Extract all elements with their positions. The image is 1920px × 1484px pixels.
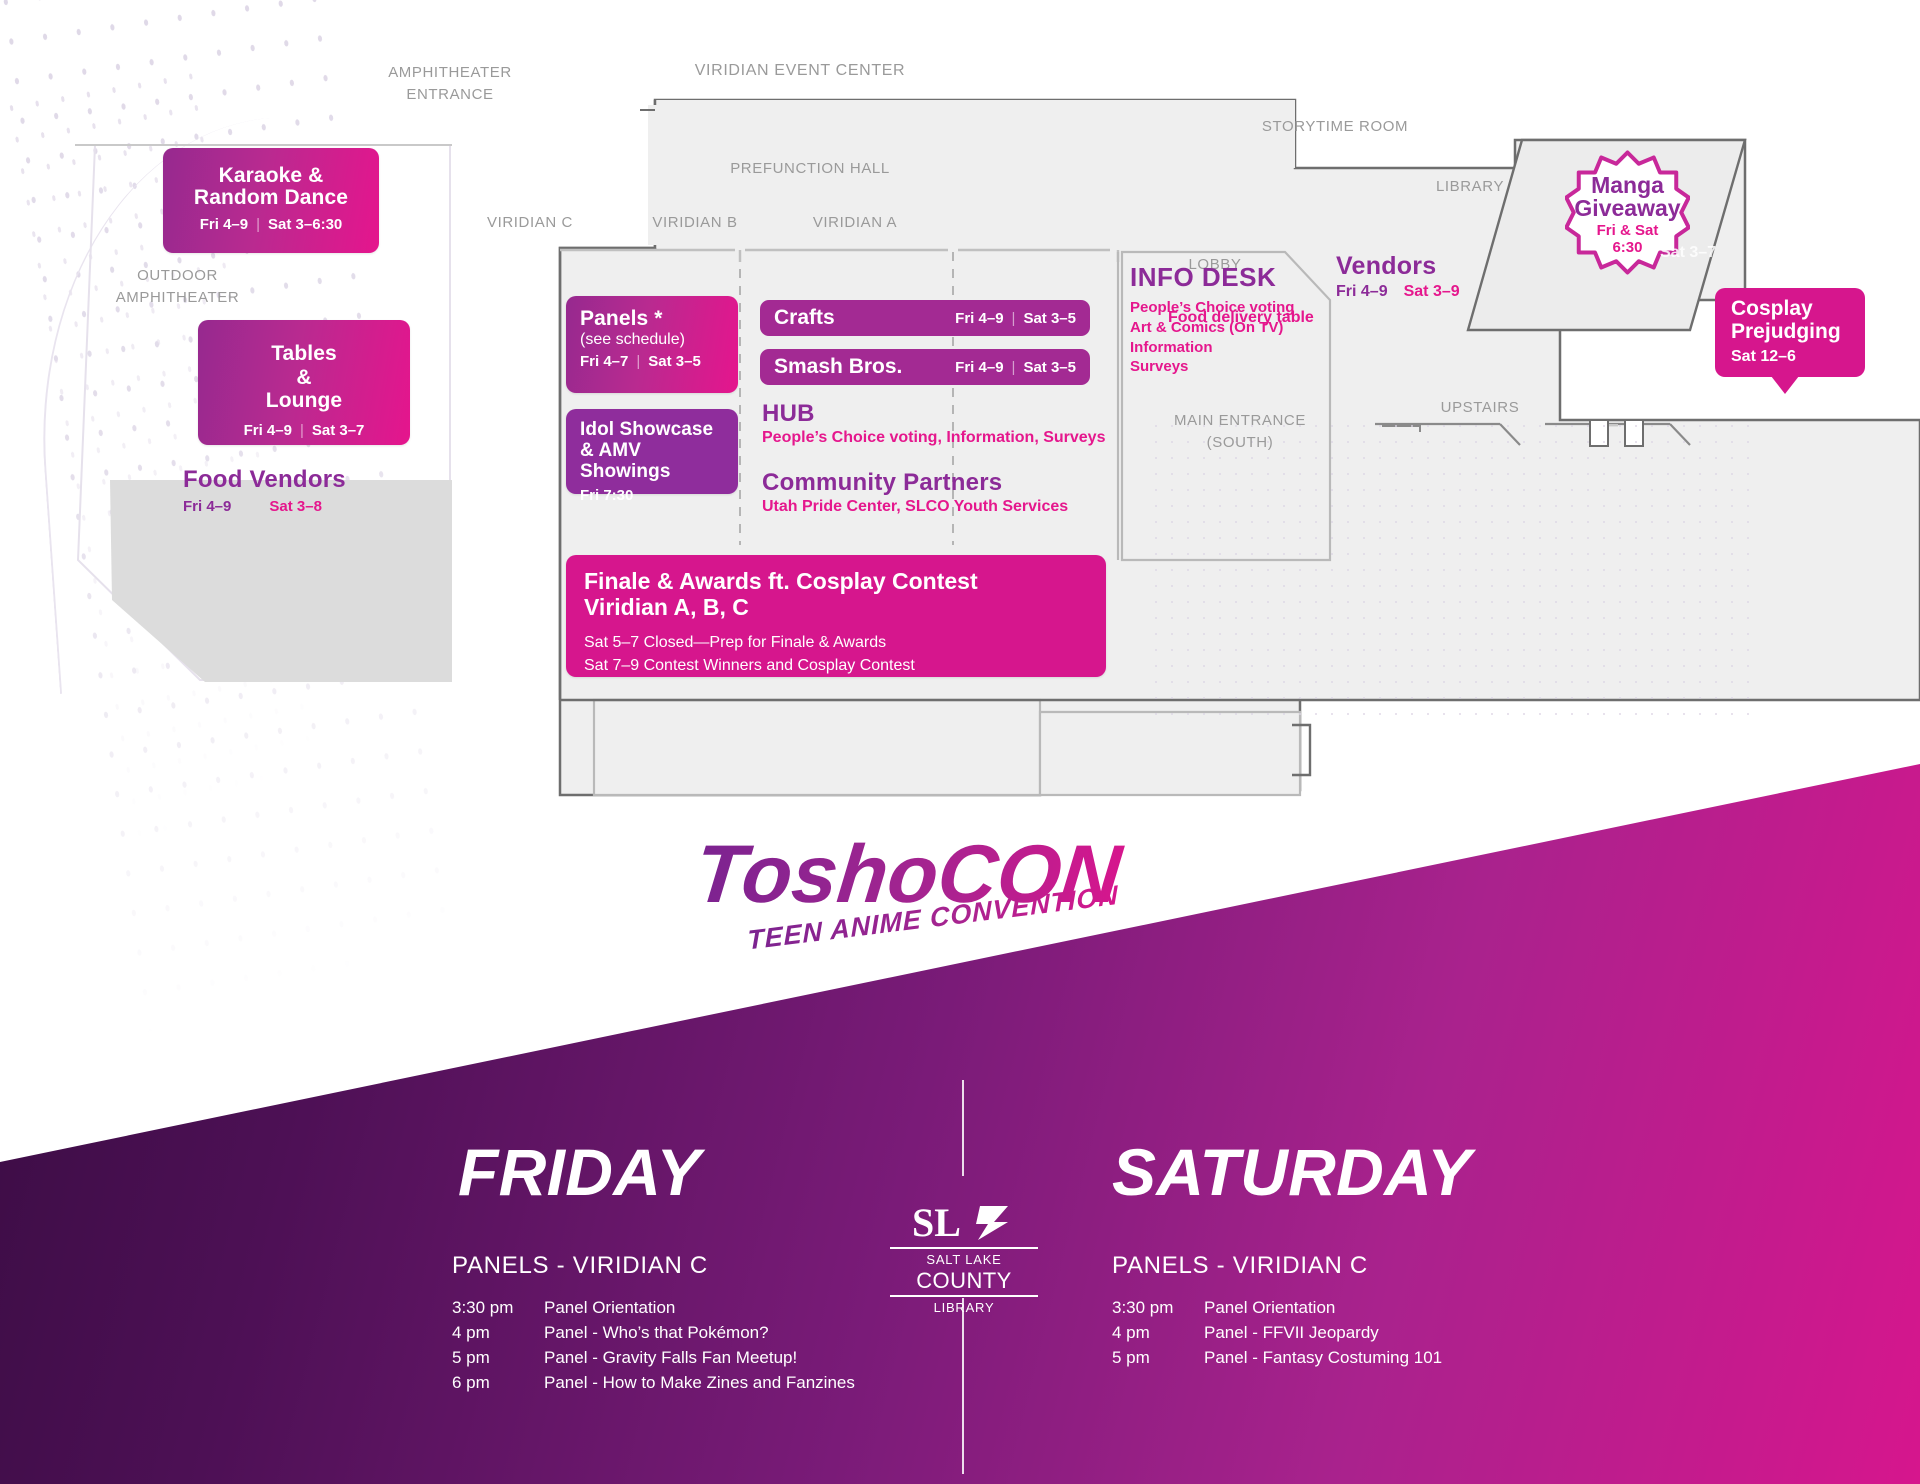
crafts-title: Crafts bbox=[774, 306, 835, 330]
pin-tail bbox=[1771, 376, 1799, 394]
card-tables-lounge[interactable]: Tables & Lounge Fri 4–9|Sat 3–7 bbox=[198, 320, 410, 445]
panels-times: Fri 4–7|Sat 3–5 bbox=[580, 353, 724, 370]
label-upstairs: UPSTAIRS bbox=[1410, 399, 1550, 416]
food-vendors-block: Food Vendors Fri 4–9 Sat 3–8 bbox=[183, 466, 443, 515]
dot-texture-lobby bbox=[1150, 420, 1750, 720]
vendors-sat: Sat 3–9 bbox=[1404, 283, 1460, 301]
karaoke-times: Fri 4–9|Sat 3–6:30 bbox=[177, 216, 365, 233]
cosplay-prejudging-body: Cosplay Prejudging Sat 12–6 bbox=[1715, 288, 1865, 377]
label-outdoor-amphitheater: OUTDOOR AMPHITHEATER bbox=[70, 265, 285, 309]
label-main-entrance: MAIN ENTRANCE (SOUTH) bbox=[1150, 410, 1330, 454]
divider-top bbox=[962, 1080, 964, 1176]
cosplay-prejudging-title: Cosplay Prejudging bbox=[1731, 298, 1849, 343]
hub-block: HUB People’s Choice voting, Information,… bbox=[762, 400, 1122, 447]
friday-heading: FRIDAY bbox=[458, 1134, 701, 1210]
schedule-row: 6 pm Panel - How to Make Zines and Fanzi… bbox=[452, 1371, 972, 1396]
schedule-row: 5 pm Panel - Fantasy Costuming 101 bbox=[1112, 1346, 1632, 1371]
finale-line2: Sat 7–9 Contest Winners and Cosplay Cont… bbox=[584, 654, 1088, 677]
food-vendors-sat: Sat 3–8 bbox=[269, 498, 322, 515]
friday-section-heading: PANELS - VIRIDIAN C bbox=[452, 1252, 708, 1280]
label-amphitheater-entrance: AMPHITHEATER ENTRANCE bbox=[350, 62, 550, 106]
divider-bottom bbox=[962, 1298, 964, 1474]
cosplay-prejudging-times: Sat 12–6 bbox=[1731, 348, 1849, 366]
schedule-content: FRIDAY PANELS - VIRIDIAN C 3:30 pm Panel… bbox=[0, 764, 1920, 1484]
label-storytime-room: STORYTIME ROOM bbox=[1225, 118, 1445, 135]
slco-monogram-icon: SL bbox=[908, 1200, 1020, 1244]
svg-text:SL: SL bbox=[912, 1200, 961, 1244]
info-desk-lines: People’s Choice voting Art & Comics (On … bbox=[1130, 298, 1350, 377]
slco-line3: LIBRARY bbox=[890, 1295, 1038, 1316]
label-viridian-c: VIRIDIAN C bbox=[440, 214, 620, 231]
smash-bros-title: Smash Bros. bbox=[774, 355, 902, 379]
card-finale-awards[interactable]: Finale & Awards ft. Cosplay Contest Viri… bbox=[566, 555, 1106, 677]
slco-line2: COUNTY bbox=[890, 1268, 1038, 1295]
card-panels[interactable]: Panels * (see schedule) Fri 4–7|Sat 3–5 bbox=[566, 296, 738, 393]
card-karaoke-random-dance[interactable]: Karaoke & Random Dance Fri 4–9|Sat 3–6:3… bbox=[163, 148, 379, 253]
card-smash-bros[interactable]: Smash Bros. Fri 4–9|Sat 3–5 bbox=[760, 349, 1090, 385]
saturday-section-heading: PANELS - VIRIDIAN C bbox=[1112, 1252, 1368, 1280]
schedule-row: 3:30 pm Panel Orientation bbox=[1112, 1296, 1632, 1321]
card-cosplay-prejudging[interactable]: Cosplay Prejudging Sat 12–6 bbox=[1715, 288, 1865, 377]
schedule-row: 4 pm Panel - Who’s that Pokémon? bbox=[452, 1321, 972, 1346]
label-viridian-event-center: VIRIDIAN EVENT CENTER bbox=[640, 62, 960, 80]
vendors-block: Vendors Fri 4–9 Sat 3–9 bbox=[1336, 252, 1576, 301]
info-desk-block: INFO DESK People’s Choice voting Art & C… bbox=[1130, 262, 1350, 377]
crafts-times: Fri 4–9|Sat 3–5 bbox=[955, 310, 1076, 327]
saturday-schedule-list: 3:30 pm Panel Orientation 4 pm Panel - F… bbox=[1112, 1296, 1632, 1371]
finale-title: Finale & Awards ft. Cosplay Contest bbox=[584, 569, 1088, 595]
saturday-heading: SATURDAY bbox=[1112, 1134, 1472, 1210]
label-viridian-a: VIRIDIAN A bbox=[765, 214, 945, 231]
finale-subtitle: Viridian A, B, C bbox=[584, 595, 1088, 621]
convention-map-page: VIRIDIAN EVENT CENTER AMPHITHEATER ENTRA… bbox=[0, 0, 1920, 1484]
label-viridian-b: VIRIDIAN B bbox=[605, 214, 785, 231]
finale-line1: Sat 5–7 Closed—Prep for Finale & Awards bbox=[584, 631, 1088, 654]
vendors-fri: Fri 4–9 bbox=[1336, 283, 1388, 301]
food-vendors-fri: Fri 4–9 bbox=[183, 498, 231, 515]
smash-bros-times: Fri 4–9|Sat 3–5 bbox=[955, 359, 1076, 376]
manga-giveaway-days: Fri & Sat bbox=[1597, 223, 1659, 240]
slco-line1: SALT LAKE bbox=[890, 1247, 1038, 1268]
community-partners-block: Community Partners Utah Pride Center, SL… bbox=[762, 469, 1142, 516]
slco-library-logo: SL SALT LAKE COUNTY LIBRARY bbox=[890, 1200, 1038, 1316]
card-idol-showcase[interactable]: Idol Showcase & AMV Showings Fri 7:30 bbox=[566, 409, 738, 494]
label-library: LIBRARY bbox=[1400, 178, 1540, 195]
manga-giveaway-time: 6:30 bbox=[1612, 240, 1642, 257]
label-prefunction-hall: PREFUNCTION HALL bbox=[700, 160, 920, 177]
schedule-row: 4 pm Panel - FFVII Jeopardy bbox=[1112, 1321, 1632, 1346]
schedule-row: 5 pm Panel - Gravity Falls Fan Meetup! bbox=[452, 1346, 972, 1371]
card-crafts[interactable]: Crafts Fri 4–9|Sat 3–5 bbox=[760, 300, 1090, 336]
manga-giveaway-title: Manga Giveaway bbox=[1574, 174, 1680, 220]
tables-lounge-times: Fri 4–9|Sat 3–7 bbox=[212, 422, 396, 439]
